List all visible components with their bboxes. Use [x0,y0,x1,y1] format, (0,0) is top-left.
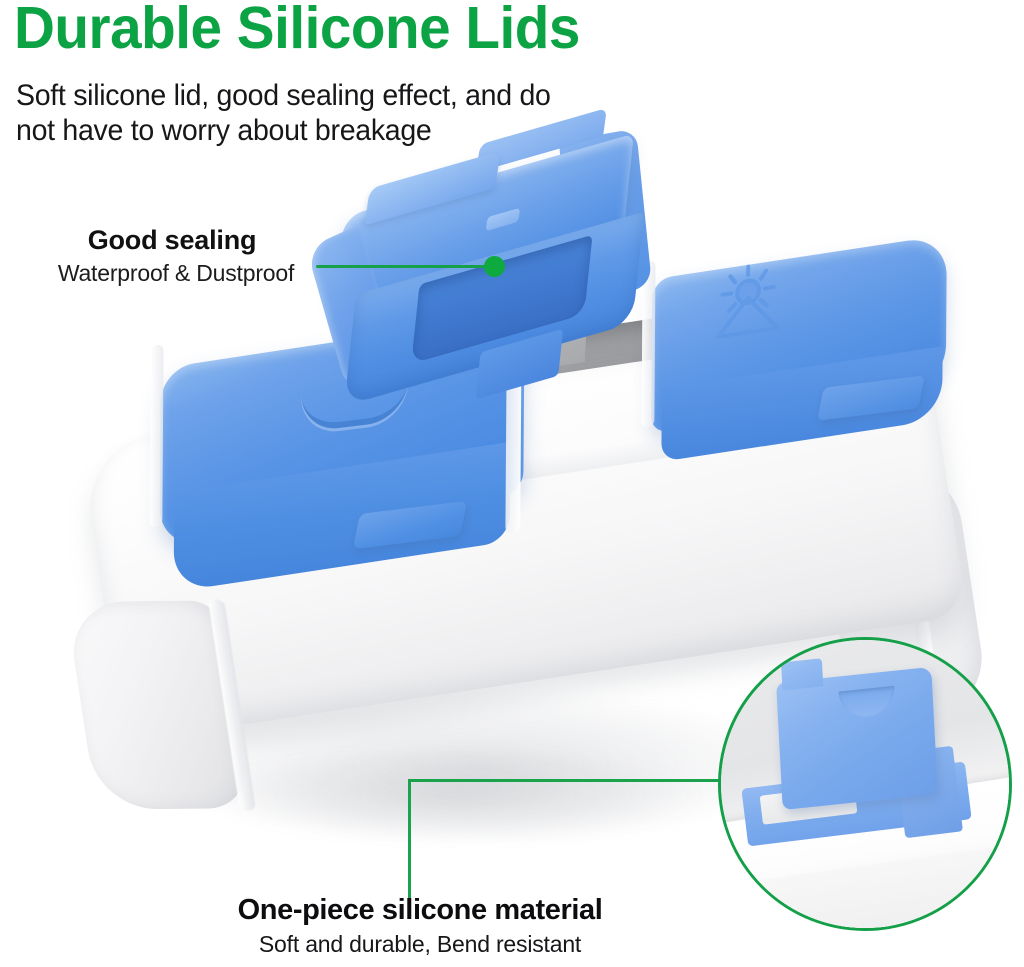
subtitle-line-1: Soft silicone lid, good sealing effect, … [16,78,551,113]
subtitle-line-2: not have to worry about breakage [16,113,551,148]
callout-leader-line-1 [316,265,492,268]
callout-good-sealing-title: Good sealing [28,224,316,256]
page-subtitle: Soft silicone lid, good sealing effect, … [16,78,551,148]
callout-one-piece-subtitle: Soft and durable, Bend resistant [0,931,840,958]
callout-marker-dot [484,256,505,277]
callout-one-piece-title: One-piece silicone material [0,893,840,927]
inset-silicone-notch [838,686,895,720]
inset-silicone-lid-block [776,666,937,809]
page-title: Durable Silicone Lids [14,0,580,60]
uv-sun-icon [702,255,794,346]
callout-good-sealing-subtitle: Waterproof & Dustproof [28,259,324,287]
inset-photo-background [721,640,1009,928]
left-lid-seam-outer [149,344,163,528]
callout-good-sealing: Good sealing Waterproof & Dustproof [28,224,324,287]
infographic-canvas: Durable Silicone Lids Soft silicone lid,… [0,0,1024,967]
silicone-lid-closeup-inset [718,637,1012,931]
inset-silicone-tab [781,658,823,690]
callout-one-piece: One-piece silicone material Soft and dur… [0,893,840,958]
